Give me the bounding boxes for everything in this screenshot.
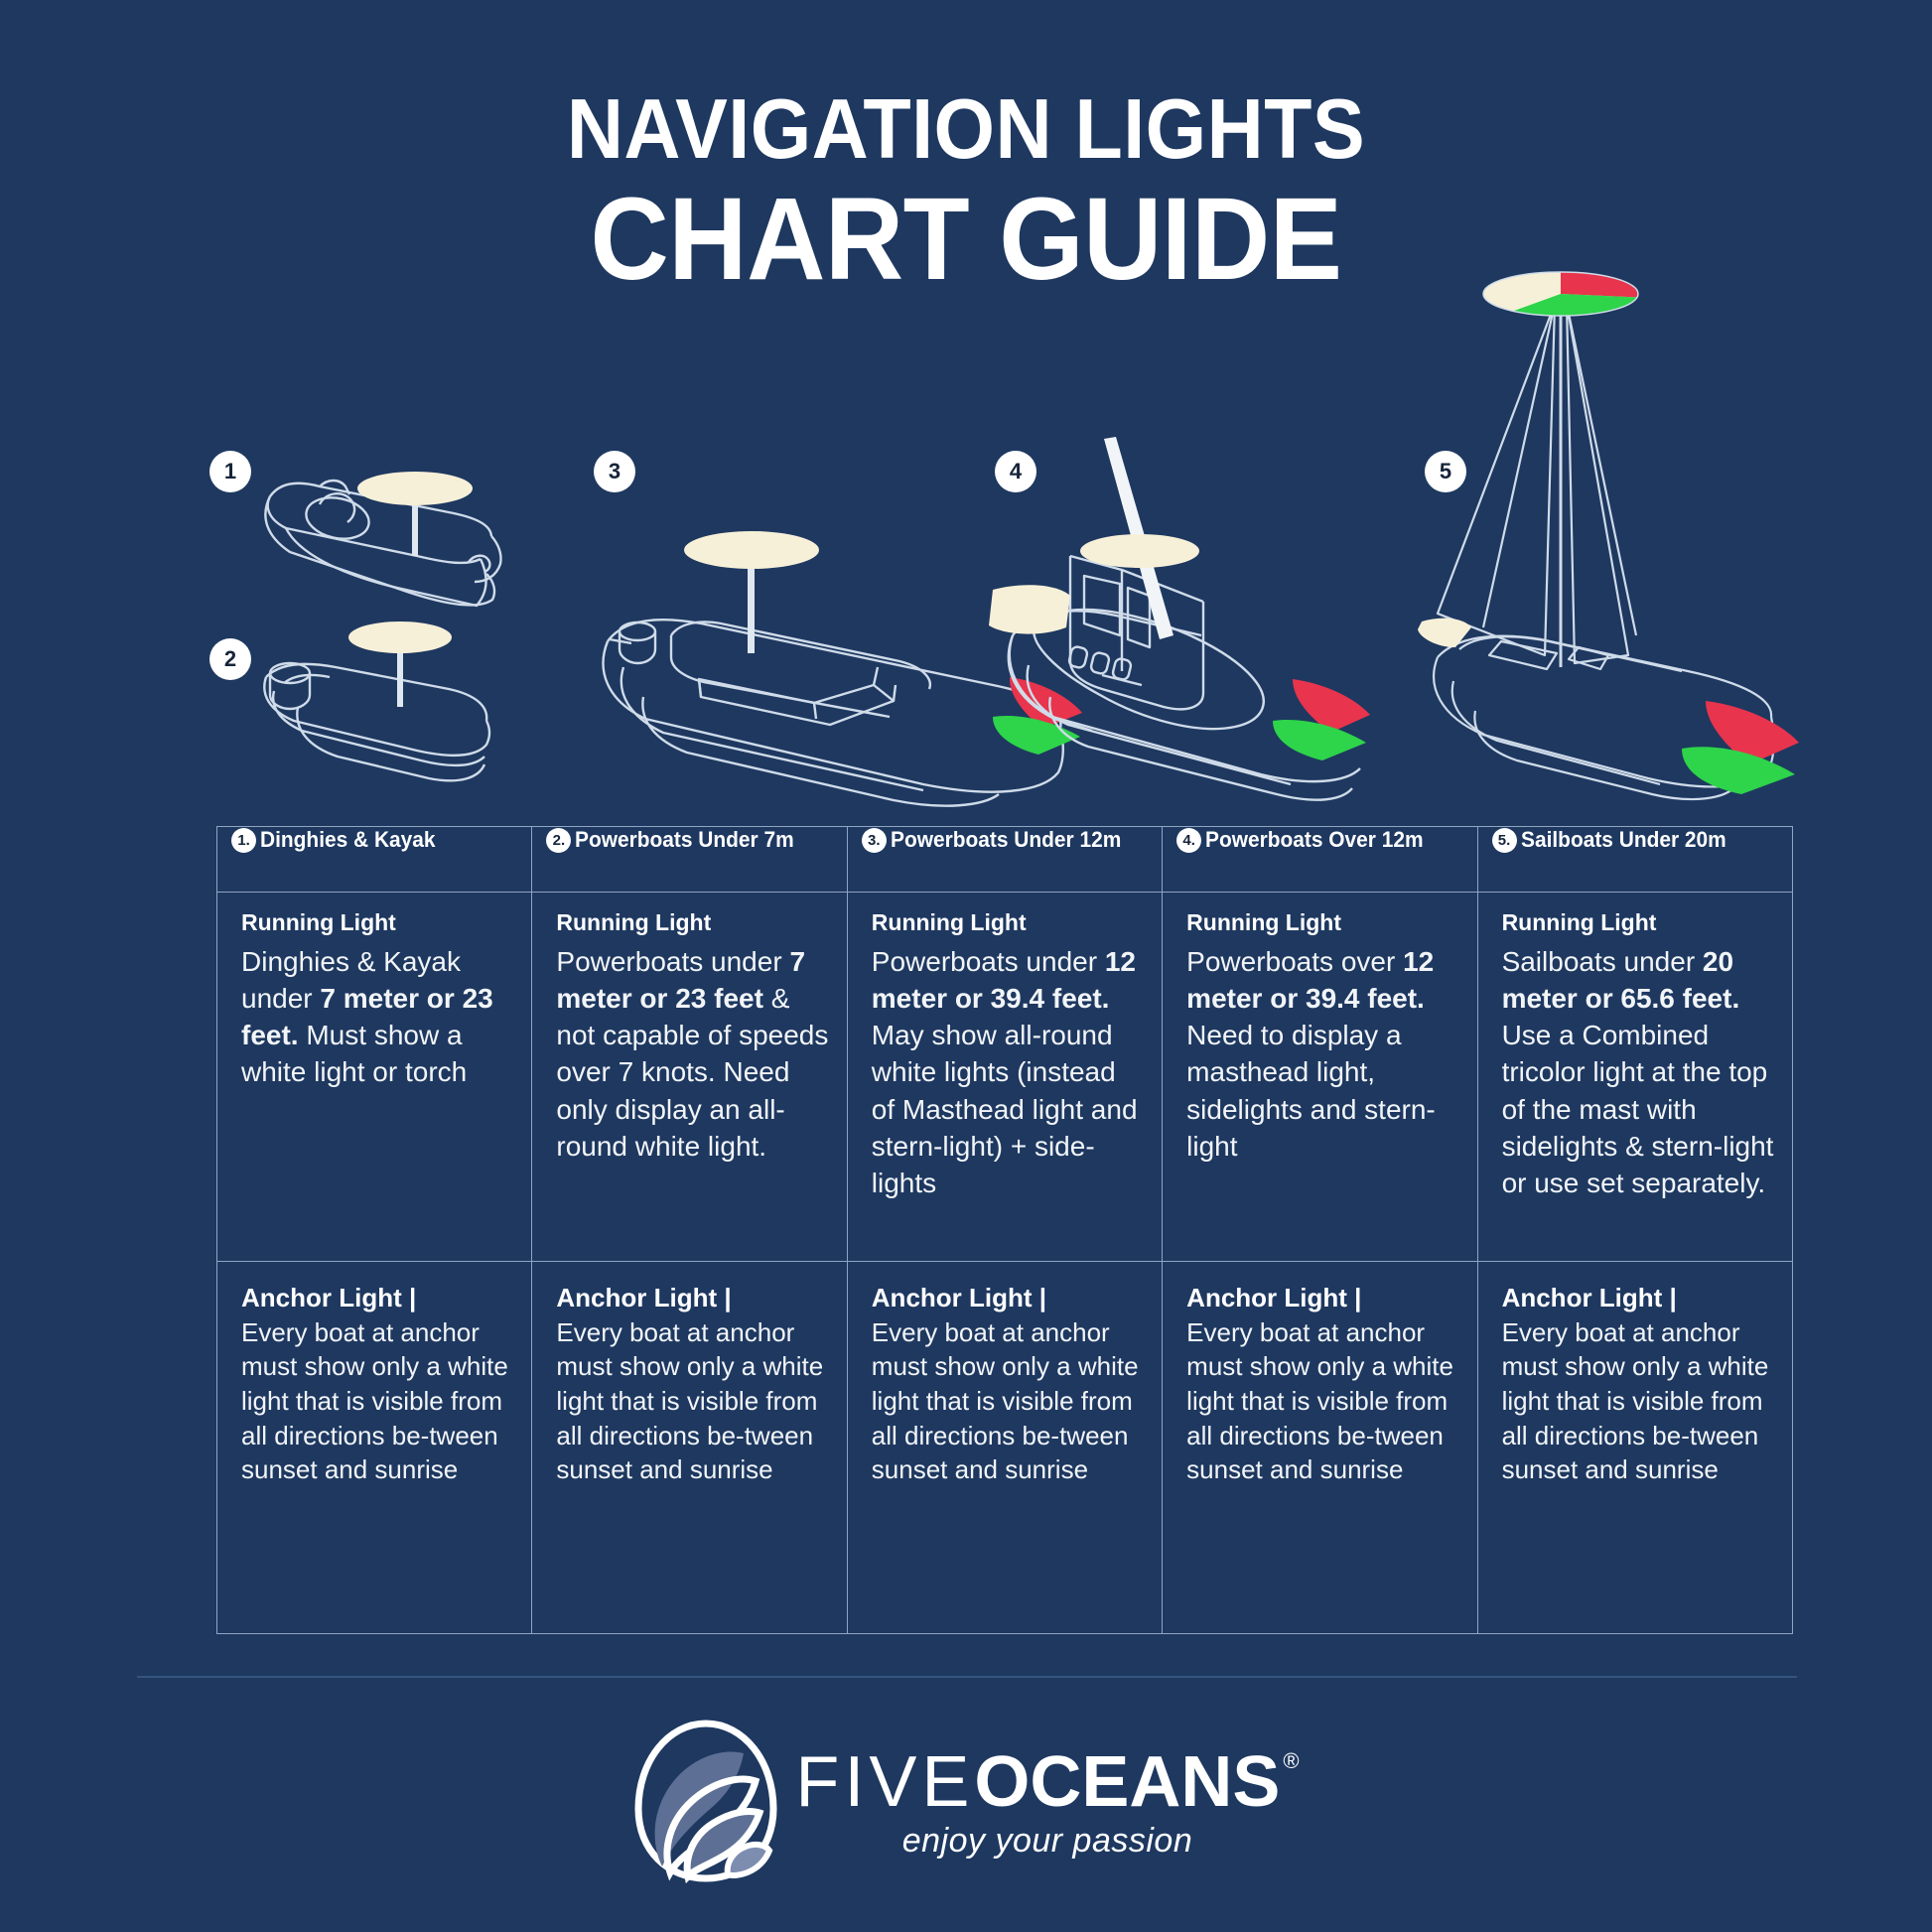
sailboat-tricolor-light	[1483, 266, 1648, 320]
table-header-cell-1: 1. Dinghies & Kayak	[217, 827, 532, 893]
logo-oceans-text: OCEANS	[974, 1746, 1280, 1818]
anchor-light-text-5: Every boat at anchor must show only a wh…	[1502, 1315, 1776, 1487]
powerboat-over-12m-stern-light	[989, 585, 1070, 633]
anchor-light-cell-5: Anchor Light | Every boat at anchor must…	[1477, 1262, 1792, 1634]
running-light-text-4: Powerboats over 12 meter or 39.4 feet. N…	[1186, 943, 1460, 1165]
running-light-text-5: Sailboats under 20 meter or 65.6 feet. U…	[1502, 943, 1776, 1202]
illustration-badge-1: 1	[209, 451, 251, 492]
running-light-cell-2: Running Light Powerboats under 7 meter o…	[532, 893, 847, 1262]
logo-wordmark: FIVE OCEANS ®	[795, 1746, 1299, 1818]
brand-logo: FIVE OCEANS ® enjoy your passion	[0, 1718, 1932, 1889]
running-light-label-1: Running Light	[241, 908, 515, 937]
running-light-cell-5: Running Light Sailboats under 20 meter o…	[1477, 893, 1792, 1262]
running-light-text-1: Dinghies & Kayak under 7 meter or 23 fee…	[241, 943, 515, 1091]
header-label-2: Powerboats Under 7m	[575, 827, 794, 853]
anchor-light-row: Anchor Light | Every boat at anchor must…	[217, 1262, 1793, 1634]
anchor-light-label-5: Anchor Light |	[1502, 1282, 1776, 1315]
infographic-page: NAVIGATION LIGHTS CHART GUIDE	[0, 0, 1932, 1932]
running-light-label-4: Running Light	[1186, 908, 1460, 937]
table-header-cell-2: 2. Powerboats Under 7m	[532, 827, 847, 893]
powerboat-under-12m-all-round-light	[684, 531, 819, 653]
registered-trademark-icon: ®	[1283, 1750, 1299, 1772]
running-light-row: Running Light Dinghies & Kayak under 7 m…	[217, 893, 1793, 1262]
header-number-5: 5.	[1492, 828, 1517, 853]
footer-divider	[137, 1676, 1797, 1678]
running-light-cell-4: Running Light Powerboats over 12 meter o…	[1163, 893, 1477, 1262]
illustration-badge-3: 3	[594, 451, 635, 492]
table-header-cell-4: 4. Powerboats Over 12m	[1163, 827, 1477, 893]
anchor-light-cell-4: Anchor Light | Every boat at anchor must…	[1163, 1262, 1477, 1634]
anchor-light-text-4: Every boat at anchor must show only a wh…	[1186, 1315, 1460, 1487]
header-number-1: 1.	[231, 828, 256, 853]
sailboat-stern-light	[1418, 619, 1471, 647]
header-label-4: Powerboats Over 12m	[1205, 827, 1424, 853]
illustration-badge-4: 4	[995, 451, 1036, 492]
running-light-text-2: Powerboats under 7 meter or 23 feet & no…	[556, 943, 830, 1165]
running-light-cell-1: Running Light Dinghies & Kayak under 7 m…	[217, 893, 532, 1262]
logo-text-group: FIVE OCEANS ® enjoy your passion	[795, 1746, 1299, 1861]
logo-tagline: enjoy your passion	[902, 1822, 1193, 1861]
anchor-light-label-1: Anchor Light |	[241, 1282, 515, 1315]
illustrations-layer: 1 2 3 4 5	[0, 0, 1932, 824]
running-light-cell-3: Running Light Powerboats under 12 meter …	[847, 893, 1162, 1262]
anchor-light-cell-3: Anchor Light | Every boat at anchor must…	[847, 1262, 1162, 1634]
boats-illustration-svg	[0, 0, 1932, 824]
navigation-lights-table: 1. Dinghies & Kayak 2. Powerboats Under …	[216, 826, 1793, 1634]
running-light-label-3: Running Light	[872, 908, 1146, 937]
anchor-light-label-4: Anchor Light |	[1186, 1282, 1460, 1315]
anchor-light-text-2: Every boat at anchor must show only a wh…	[556, 1315, 830, 1487]
anchor-light-cell-2: Anchor Light | Every boat at anchor must…	[532, 1262, 847, 1634]
five-oceans-wave-icon	[632, 1718, 779, 1889]
small-powerboat-illustration	[264, 663, 489, 780]
powerboat-over-12m-masthead-light	[1080, 534, 1199, 568]
anchor-light-text-1: Every boat at anchor must show only a wh…	[241, 1315, 515, 1487]
header-number-3: 3.	[862, 828, 887, 853]
logo-five-text: FIVE	[795, 1746, 974, 1818]
table-header-row: 1. Dinghies & Kayak 2. Powerboats Under …	[217, 827, 1793, 893]
anchor-light-label-3: Anchor Light |	[872, 1282, 1146, 1315]
anchor-light-label-2: Anchor Light |	[556, 1282, 830, 1315]
header-label-3: Powerboats Under 12m	[891, 827, 1121, 853]
illustration-badge-5: 5	[1425, 451, 1466, 492]
small-powerboat-all-round-light	[348, 621, 452, 707]
anchor-light-text-3: Every boat at anchor must show only a wh…	[872, 1315, 1146, 1487]
powerboat-under-12m-illustration	[604, 620, 1063, 805]
running-light-label-5: Running Light	[1502, 908, 1776, 937]
running-light-label-2: Running Light	[556, 908, 830, 937]
navigation-lights-table-wrapper: 1. Dinghies & Kayak 2. Powerboats Under …	[216, 826, 1793, 1634]
header-label-5: Sailboats Under 20m	[1521, 827, 1726, 853]
running-light-text-3: Powerboats under 12 meter or 39.4 feet. …	[872, 943, 1146, 1202]
header-number-2: 2.	[546, 828, 571, 853]
powerboat-over-12m-starboard-light	[1273, 720, 1366, 760]
table-header-cell-5: 5. Sailboats Under 20m	[1477, 827, 1792, 893]
illustration-badge-2: 2	[209, 638, 251, 680]
header-number-4: 4.	[1176, 828, 1201, 853]
anchor-light-cell-1: Anchor Light | Every boat at anchor must…	[217, 1262, 532, 1634]
table-header-cell-3: 3. Powerboats Under 12m	[847, 827, 1162, 893]
header-label-1: Dinghies & Kayak	[260, 827, 436, 853]
